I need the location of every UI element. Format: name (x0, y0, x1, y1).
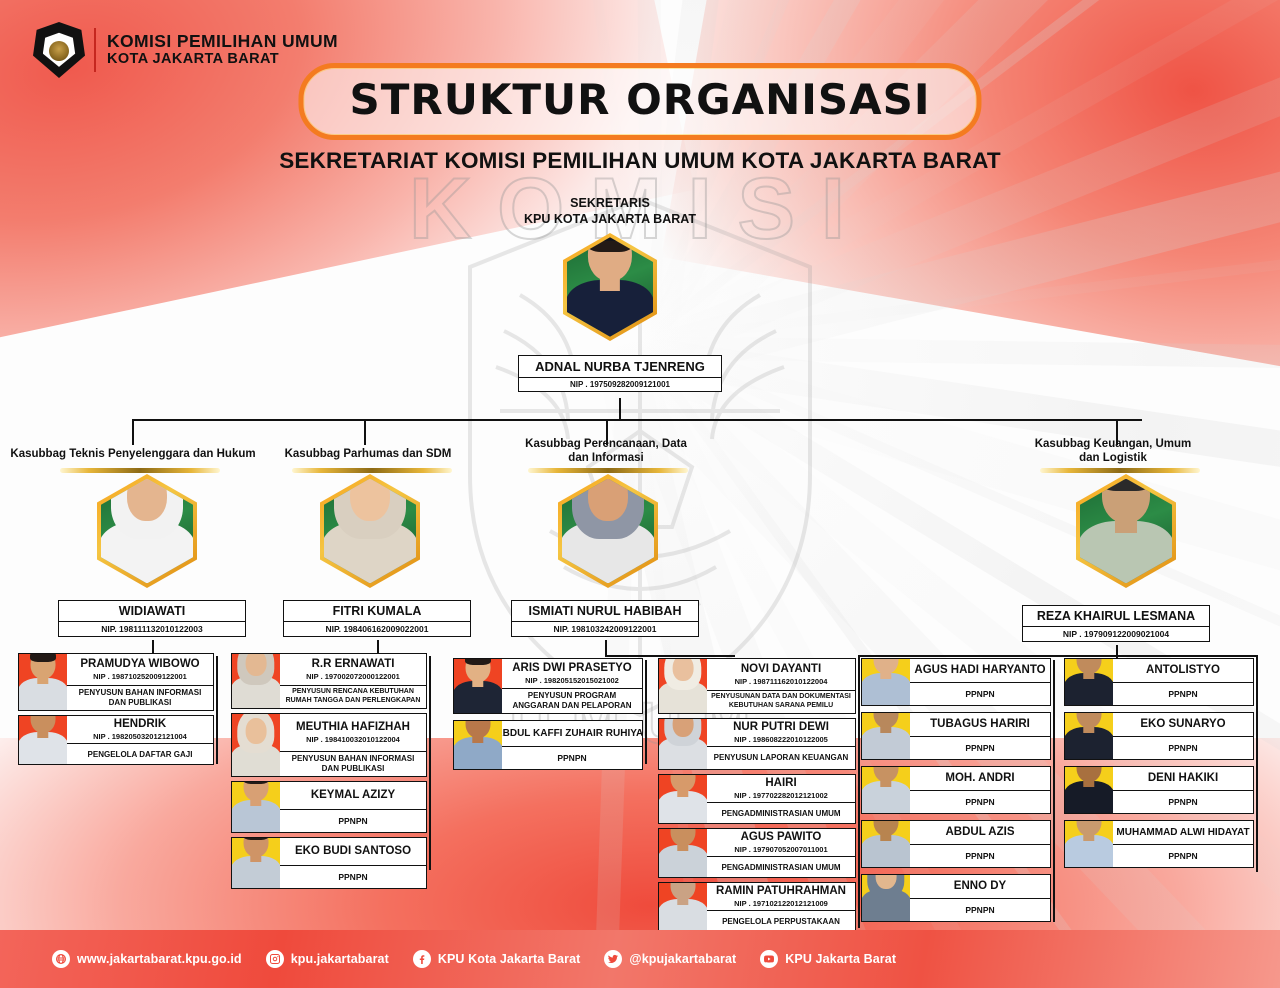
staff-photo (232, 714, 280, 776)
staff-name: MUHAMMAD ALWI HIDAYAT (1116, 827, 1249, 839)
plate-nip: NIP. 198111132010122003 (59, 622, 245, 636)
hex-inner (324, 479, 416, 584)
staff-card-keuangan-umum-a-2[interactable]: HAIRINIP . 197702282012121002PENGADMINIS… (658, 774, 856, 824)
secretary-photo (563, 233, 657, 341)
staff-card-perencanaan-data-0[interactable]: ARIS DWI PRASETYONIP . 19820515201502100… (453, 658, 643, 714)
staff-position: PPNPN (1113, 737, 1253, 759)
staff-position: PENYUSUN RENCANA KEBUTUHAN RUMAH TANGGA … (280, 686, 426, 708)
staff-photo (862, 821, 910, 867)
staff-photo (232, 838, 280, 888)
staff-position: PPNPN (1113, 845, 1253, 867)
plate-nip: NIP . 197909122009021004 (1023, 627, 1209, 641)
staff-photo (454, 721, 502, 769)
staff-nip: NIP . 198710252009122001 (93, 672, 187, 681)
footer-item-twitter[interactable]: @kpujakartabarat (604, 950, 736, 968)
staff-info: MEUTHIA HAFIZHAHNIP . 198410032010122004… (280, 714, 426, 776)
staff-info: MUHAMMAD ALWI HIDAYATPPNPN (1113, 821, 1253, 867)
page-title-pill: STRUKTUR ORGANISASI (298, 63, 981, 140)
staff-nip: NIP . 198711162010122004 (735, 677, 828, 686)
staff-name: ENNO DY (954, 880, 1006, 893)
plate-name: FITRI KUMALA (284, 601, 470, 622)
staff-photo (659, 719, 707, 769)
division-drop-0 (132, 419, 134, 445)
division-label-line2: dan Logistik (1079, 452, 1147, 464)
staff-name: RAMIN PATUHRAHMAN (716, 885, 846, 898)
staff-name: HAIRI (765, 777, 796, 790)
staff-position: PENGELOLA DAFTAR GAJI (67, 744, 213, 765)
column-spine-0 (216, 656, 218, 764)
staff-name-row: ABDUL AZIS (910, 821, 1050, 845)
staff-name: ABDUL KAFFI ZUHAIR RUHIYAT (495, 728, 643, 740)
footer-link-label: kpu.jakartabarat (291, 952, 389, 966)
staff-name-row: MOH. ANDRI (910, 767, 1050, 791)
plate-nip: NIP. 198103242009122001 (512, 622, 698, 636)
staff-info: ARIS DWI PRASETYONIP . 19820515201502100… (502, 659, 642, 713)
staff-card-perencanaan-data-1[interactable]: ABDUL KAFFI ZUHAIR RUHIYATPPNPN (453, 720, 643, 770)
portrait (659, 719, 707, 769)
footer-link-label: @kpujakartabarat (629, 952, 736, 966)
staff-name: AGUS PAWITO (741, 831, 822, 844)
division-label-2: Kasubbag Perencanaan, Datadan Informasi (503, 437, 709, 466)
division-label-line1: Kasubbag Parhumas dan SDM (285, 448, 452, 460)
division-head-photo-0 (97, 474, 197, 588)
staff-nip: NIP . 198608222010122005 (734, 735, 828, 744)
staff-card-parhumas-sdm-3[interactable]: EKO BUDI SANTOSOPPNPN (231, 837, 427, 889)
staff-info: AGUS PAWITONIP . 197907052007011001PENGA… (707, 829, 855, 877)
staff-name-row: EKO SUNARYO (1113, 713, 1253, 737)
staff-photo (659, 659, 707, 713)
plate-name: ISMIATI NURUL HABIBAH (512, 601, 698, 622)
staff-photo (232, 654, 280, 708)
plate-name: WIDIAWATI (59, 601, 245, 622)
staff-info: AGUS HADI HARYANTOPPNPN (910, 659, 1050, 705)
portrait (659, 883, 707, 931)
staff-name: R.R ERNAWATI (312, 658, 395, 671)
staff-info: MOH. ANDRIPPNPN (910, 767, 1050, 813)
staff-name-row: ENNO DY (910, 875, 1050, 899)
portrait (862, 659, 910, 705)
link-div1 (377, 640, 379, 654)
staff-nip: NIP . 197102122012121009 (734, 899, 828, 908)
division-gold-bar-1 (292, 468, 452, 473)
portrait (324, 479, 416, 584)
facebook-icon (413, 950, 431, 968)
staff-photo (1065, 659, 1113, 705)
division-head-photo-3 (1076, 474, 1176, 588)
portrait (1080, 479, 1172, 584)
portrait (567, 237, 653, 336)
staff-photo (659, 775, 707, 823)
plate-nip: NIP. 198406162009022001 (284, 622, 470, 636)
staff-position: PPNPN (1113, 683, 1253, 705)
hex-frame (558, 474, 658, 588)
link-div3-h (858, 655, 1256, 657)
staff-name-row: ANTOLISTYO (1113, 659, 1253, 683)
staff-position: PPNPN (910, 899, 1050, 921)
portrait (1065, 713, 1113, 759)
portrait (1065, 767, 1113, 813)
logo-divider (94, 28, 96, 72)
staff-name-row: HAIRINIP . 197702282012121002 (707, 775, 855, 803)
staff-photo (1065, 767, 1113, 813)
portrait (562, 479, 654, 584)
hex-frame (1076, 474, 1176, 588)
staff-photo (19, 716, 67, 764)
staff-name-row: AGUS PAWITONIP . 197907052007011001 (707, 829, 855, 857)
staff-position: PENGADMINISTRASIAN UMUM (707, 803, 855, 824)
staff-photo (232, 782, 280, 832)
staff-position: PPNPN (910, 845, 1050, 867)
staff-name-row: PRAMUDYA WIBOWONIP . 198710252009122001 (67, 654, 213, 686)
staff-card-keuangan-umum-c-1[interactable]: EKO SUNARYOPPNPN (1064, 712, 1254, 760)
division-label-line1: Kasubbag Teknis Penyelenggara dan Hukum (10, 448, 255, 460)
staff-nip: NIP . 197002072000122001 (306, 672, 400, 681)
staff-name: KEYMAL AZIZY (311, 789, 395, 802)
portrait (862, 713, 910, 759)
division-label-line1: Kasubbag Keuangan, Umum (1035, 438, 1192, 450)
staff-info: EKO BUDI SANTOSOPPNPN (280, 838, 426, 888)
staff-position: PPNPN (910, 737, 1050, 759)
staff-info: ENNO DYPPNPN (910, 875, 1050, 921)
staff-position: PENGELOLA PERPUSTAKAAN (707, 911, 855, 932)
division-bus (132, 419, 1142, 421)
division-head-photo-2 (558, 474, 658, 588)
staff-info: KEYMAL AZIZYPPNPN (280, 782, 426, 832)
kpu-logo-block: KOMISI PEMILIHAN UMUM KOTA JAKARTA BARAT (33, 22, 338, 78)
staff-info: TUBAGUS HARIRIPPNPN (910, 713, 1050, 759)
secretary-role-label: SEKRETARISKPU KOTA JAKARTA BARAT (510, 196, 710, 227)
staff-card-keuangan-umum-c-3[interactable]: MUHAMMAD ALWI HIDAYATPPNPN (1064, 820, 1254, 868)
staff-name: NOVI DAYANTI (741, 663, 821, 676)
portrait (232, 714, 280, 776)
staff-name: EKO SUNARYO (1140, 718, 1225, 731)
footer-item-facebook[interactable]: KPU Kota Jakarta Barat (413, 950, 581, 968)
staff-photo (862, 767, 910, 813)
portrait (232, 782, 280, 832)
plate-name: ADNAL NURBA TJENRENG (519, 356, 721, 378)
portrait (101, 479, 193, 584)
staff-card-parhumas-sdm-0[interactable]: R.R ERNAWATINIP . 197002072000122001PENY… (231, 653, 427, 709)
staff-photo (454, 659, 502, 713)
link-div0 (152, 640, 154, 654)
division-label-3: Kasubbag Keuangan, Umumdan Logistik (1010, 437, 1216, 466)
division-label-0: Kasubbag Teknis Penyelenggara dan Hukum (10, 447, 256, 461)
staff-name: ANTOLISTYO (1146, 664, 1220, 677)
secretary-role-line2: KPU KOTA JAKARTA BARAT (524, 212, 696, 226)
page-title: STRUKTUR ORGANISASI (349, 75, 930, 124)
staff-card-keuangan-umum-b-4[interactable]: ENNO DYPPNPN (861, 874, 1051, 922)
staff-photo (659, 829, 707, 877)
staff-name-row: EKO BUDI SANTOSO (280, 838, 426, 866)
staff-card-keuangan-umum-a-3[interactable]: AGUS PAWITONIP . 197907052007011001PENGA… (658, 828, 856, 878)
staff-info: EKO SUNARYOPPNPN (1113, 713, 1253, 759)
staff-name-row: MUHAMMAD ALWI HIDAYAT (1113, 821, 1253, 845)
staff-position: PPNPN (280, 810, 426, 832)
staff-name-row: DENI HAKIKI (1113, 767, 1253, 791)
footer-item-instagram[interactable]: kpu.jakartabarat (266, 950, 389, 968)
division-head-plate-0: WIDIAWATINIP. 198111132010122003 (58, 600, 246, 637)
portrait (1065, 821, 1113, 867)
footer-links: www.jakartabarat.kpu.go.idkpu.jakartabar… (52, 930, 1250, 988)
youtube-icon (760, 950, 778, 968)
staff-nip: NIP . 198205032012121004 (93, 732, 187, 741)
secretary-plate: ADNAL NURBA TJENRENGNIP . 19750928200912… (518, 355, 722, 392)
staff-nip: NIP . 198410032010122004 (306, 735, 400, 744)
division-drop-1 (364, 419, 366, 445)
staff-info: PRAMUDYA WIBOWONIP . 198710252009122001P… (67, 654, 213, 710)
division-label-1: Kasubbag Parhumas dan SDM (268, 447, 468, 461)
division-gold-bar-2 (528, 468, 688, 473)
staff-position: PPNPN (1113, 791, 1253, 813)
logo-title-line1: KOMISI PEMILIHAN UMUM (107, 32, 338, 52)
hex-frame (97, 474, 197, 588)
column-spine-2 (645, 660, 647, 764)
staff-nip: NIP . 197907052007011001 (734, 845, 827, 854)
division-gold-bar-0 (60, 468, 220, 473)
hex-frame (563, 233, 657, 341)
staff-info: R.R ERNAWATINIP . 197002072000122001PENY… (280, 654, 426, 708)
portrait (19, 654, 67, 710)
portrait (19, 716, 67, 764)
staff-photo (862, 713, 910, 759)
staff-card-keuangan-umum-b-1[interactable]: TUBAGUS HARIRIPPNPN (861, 712, 1051, 760)
staff-position: PPNPN (502, 747, 642, 769)
staff-photo (1065, 821, 1113, 867)
portrait (659, 775, 707, 823)
plate-nip: NIP . 197509282009121001 (519, 378, 721, 391)
division-label-line2: dan Informasi (568, 452, 643, 464)
staff-card-parhumas-sdm-1[interactable]: MEUTHIA HAFIZHAHNIP . 198410032010122004… (231, 713, 427, 777)
staff-name: DENI HAKIKI (1148, 772, 1218, 785)
staff-name: TUBAGUS HARIRI (930, 718, 1030, 731)
portrait (862, 875, 910, 921)
staff-position: PENYUSUN LAPORAN KEUANGAN (707, 747, 855, 769)
link-div3-l (858, 655, 860, 661)
staff-photo (862, 659, 910, 705)
plate-name: REZA KHAIRUL LESMANA (1023, 606, 1209, 627)
staff-name-row: ABDUL KAFFI ZUHAIR RUHIYAT (502, 721, 642, 747)
staff-name: ARIS DWI PRASETYO (512, 662, 631, 675)
staff-info: NUR PUTRI DEWINIP . 198608222010122005PE… (707, 719, 855, 769)
column-spine-3 (858, 660, 860, 928)
staff-position: PENYUSUNAN DATA DAN DOKUMENTASI KEBUTUHA… (707, 691, 855, 713)
hex-frame (320, 474, 420, 588)
link-div2 (605, 640, 607, 656)
staff-position: PPNPN (910, 791, 1050, 813)
division-gold-bar-3 (1040, 468, 1200, 473)
footer-bar: www.jakartabarat.kpu.go.idkpu.jakartabar… (0, 930, 1280, 988)
staff-name-row: NOVI DAYANTINIP . 198711162010122004 (707, 659, 855, 691)
hex-inner (567, 237, 653, 336)
staff-nip: NIP . 198205152015021002 (525, 676, 619, 685)
division-head-plate-3: REZA KHAIRUL LESMANANIP . 19790912200902… (1022, 605, 1210, 642)
secretary-role-line1: SEKRETARIS (570, 196, 650, 210)
staff-name-row: HENDRIKNIP . 198205032012121004 (67, 716, 213, 744)
staff-name: HENDRIK (114, 718, 166, 731)
staff-nip: NIP . 197702282012121002 (734, 791, 828, 800)
staff-photo (19, 654, 67, 710)
hex-inner (562, 479, 654, 584)
staff-info: NOVI DAYANTINIP . 198711162010122004PENY… (707, 659, 855, 713)
staff-name: ABDUL AZIS (946, 826, 1015, 839)
staff-name: AGUS HADI HARYANTO (914, 664, 1045, 677)
link-div2-h (605, 655, 735, 657)
page-subtitle: SEKRETARIAT KOMISI PEMILIHAN UMUM KOTA J… (0, 148, 1280, 174)
portrait (454, 659, 502, 713)
staff-info: DENI HAKIKIPPNPN (1113, 767, 1253, 813)
staff-name-row: MEUTHIA HAFIZHAHNIP . 198410032010122004 (280, 714, 426, 752)
secretary-trunk (619, 398, 621, 420)
staff-card-keuangan-umum-c-2[interactable]: DENI HAKIKIPPNPN (1064, 766, 1254, 814)
column-spine-1 (429, 656, 431, 870)
footer-link-label: KPU Kota Jakarta Barat (438, 952, 581, 966)
footer-item-globe[interactable]: www.jakartabarat.kpu.go.id (52, 950, 242, 968)
staff-name: MEUTHIA HAFIZHAH (296, 721, 410, 734)
staff-info: RAMIN PATUHRAHMANNIP . 19710212201212100… (707, 883, 855, 931)
staff-card-keuangan-umum-a-1[interactable]: NUR PUTRI DEWINIP . 198608222010122005PE… (658, 718, 856, 770)
staff-info: ANTOLISTYOPPNPN (1113, 659, 1253, 705)
staff-position: PPNPN (280, 866, 426, 888)
division-head-plate-2: ISMIATI NURUL HABIBAHNIP. 19810324200912… (511, 600, 699, 637)
staff-name-row: RAMIN PATUHRAHMANNIP . 19710212201212100… (707, 883, 855, 911)
staff-name-row: R.R ERNAWATINIP . 197002072000122001 (280, 654, 426, 686)
footer-item-youtube[interactable]: KPU Jakarta Barat (760, 950, 896, 968)
instagram-icon (266, 950, 284, 968)
division-label-line1: Kasubbag Perencanaan, Data (525, 438, 687, 450)
staff-photo (1065, 713, 1113, 759)
staff-name: EKO BUDI SANTOSO (295, 845, 411, 858)
staff-card-keuangan-umum-a-4[interactable]: RAMIN PATUHRAHMANNIP . 19710212201212100… (658, 882, 856, 932)
hex-inner (101, 479, 193, 584)
portrait (1065, 659, 1113, 705)
staff-name-row: AGUS HADI HARYANTO (910, 659, 1050, 683)
staff-position: PENGADMINISTRASIAN UMUM (707, 857, 855, 878)
staff-card-teknis-penyelenggara-1[interactable]: HENDRIKNIP . 198205032012121004PENGELOLA… (18, 715, 214, 765)
column-spine-4 (1053, 660, 1055, 922)
link-div3-r (1256, 655, 1258, 661)
staff-info: HENDRIKNIP . 198205032012121004PENGELOLA… (67, 716, 213, 764)
staff-card-keuangan-umum-c-0[interactable]: ANTOLISTYOPPNPN (1064, 658, 1254, 706)
staff-position: PENYUSUN BAHAN INFORMASI DAN PUBLIKASI (67, 686, 213, 710)
staff-photo (862, 875, 910, 921)
staff-card-keuangan-umum-a-0[interactable]: NOVI DAYANTINIP . 198711162010122004PENY… (658, 658, 856, 714)
portrait (659, 829, 707, 877)
staff-card-keuangan-umum-b-2[interactable]: MOH. ANDRIPPNPN (861, 766, 1051, 814)
portrait (232, 838, 280, 888)
division-head-photo-1 (320, 474, 420, 588)
twitter-icon (604, 950, 622, 968)
staff-position: PENYUSUN PROGRAM ANGGARAN DAN PELAPORAN (502, 689, 642, 713)
staff-name-row: ARIS DWI PRASETYONIP . 19820515201502100… (502, 659, 642, 689)
hex-inner (1080, 479, 1172, 584)
staff-name-row: TUBAGUS HARIRI (910, 713, 1050, 737)
footer-link-label: www.jakartabarat.kpu.go.id (77, 952, 242, 966)
portrait (232, 654, 280, 708)
staff-card-teknis-penyelenggara-0[interactable]: PRAMUDYA WIBOWONIP . 198710252009122001P… (18, 653, 214, 711)
staff-name: PRAMUDYA WIBOWO (80, 658, 199, 671)
staff-photo (659, 883, 707, 931)
staff-info: HAIRINIP . 197702282012121002PENGADMINIS… (707, 775, 855, 823)
globe-icon (52, 950, 70, 968)
staff-name: NUR PUTRI DEWI (733, 721, 829, 734)
staff-info: ABDUL KAFFI ZUHAIR RUHIYATPPNPN (502, 721, 642, 769)
portrait (659, 659, 707, 713)
logo-title-line2: KOTA JAKARTA BARAT (107, 51, 338, 68)
staff-card-keuangan-umum-b-0[interactable]: AGUS HADI HARYANTOPPNPN (861, 658, 1051, 706)
portrait (454, 721, 502, 769)
kpu-logo-icon (33, 22, 85, 78)
staff-info: ABDUL AZISPPNPN (910, 821, 1050, 867)
staff-name-row: NUR PUTRI DEWINIP . 198608222010122005 (707, 719, 855, 747)
division-head-plate-1: FITRI KUMALANIP. 198406162009022001 (283, 600, 471, 637)
portrait (862, 767, 910, 813)
staff-name: MOH. ANDRI (945, 772, 1014, 785)
staff-card-keuangan-umum-b-3[interactable]: ABDUL AZISPPNPN (861, 820, 1051, 868)
portrait (862, 821, 910, 867)
staff-position: PPNPN (910, 683, 1050, 705)
staff-name-row: KEYMAL AZIZY (280, 782, 426, 810)
footer-link-label: KPU Jakarta Barat (785, 952, 896, 966)
staff-card-parhumas-sdm-2[interactable]: KEYMAL AZIZYPPNPN (231, 781, 427, 833)
link-div3 (1116, 645, 1118, 659)
column-spine-5 (1256, 660, 1258, 872)
staff-position: PENYUSUN BAHAN INFORMASI DAN PUBLIKASI (280, 752, 426, 776)
